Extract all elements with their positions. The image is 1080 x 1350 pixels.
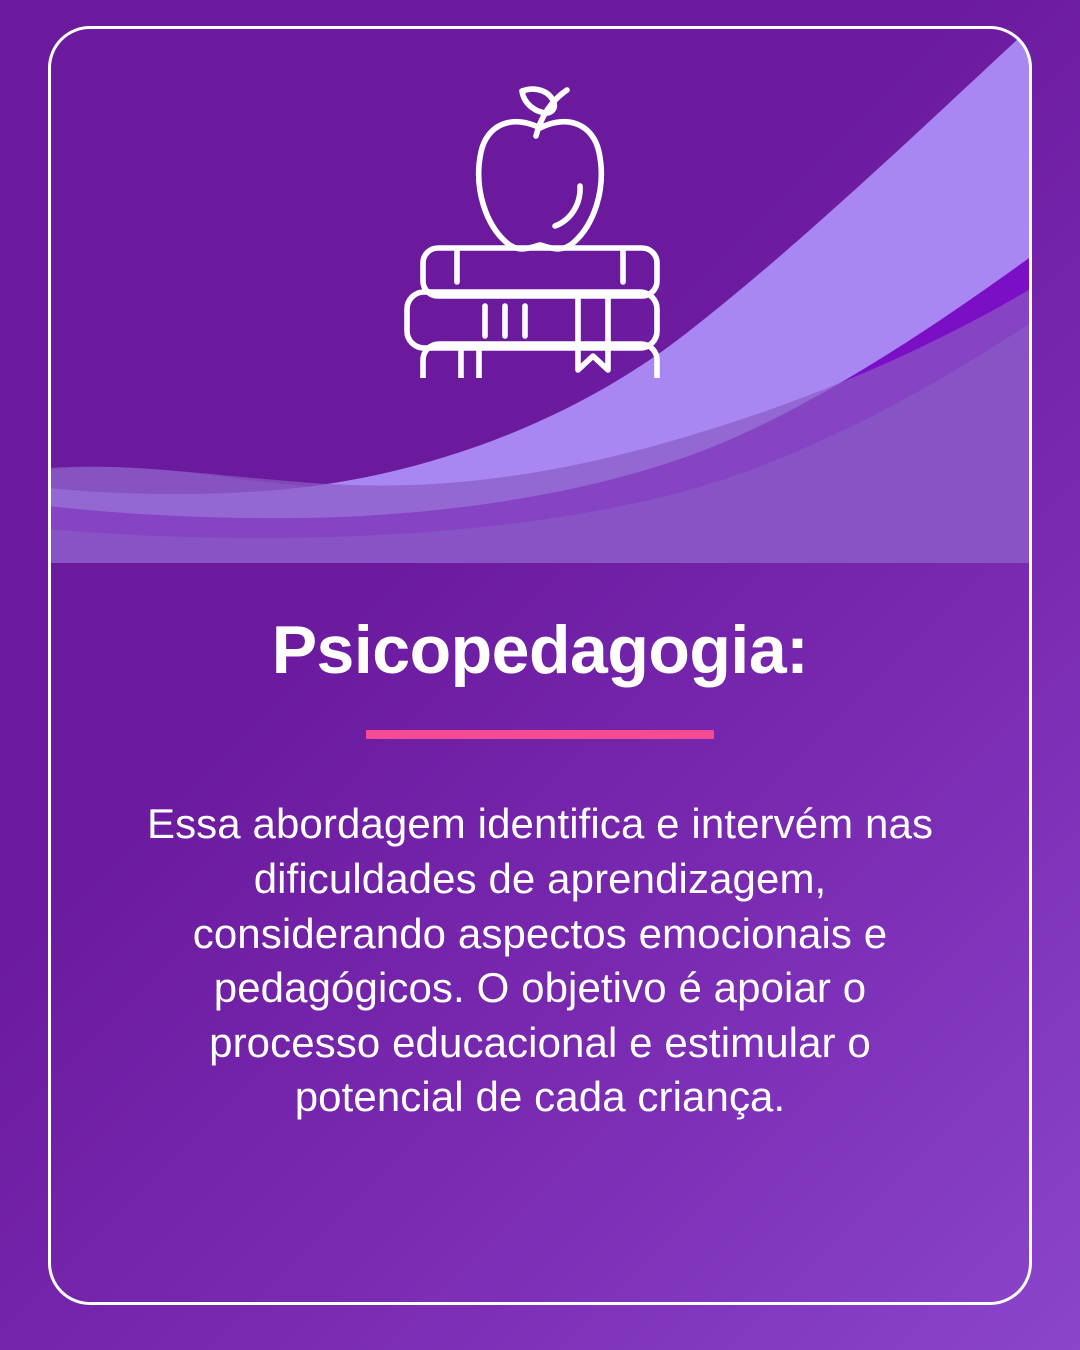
body-paragraph: Essa abordagem identifica e intervém nas…: [125, 797, 955, 1125]
apple-leaf: [522, 89, 554, 113]
apple-on-books-icon: [395, 78, 685, 378]
icon-container: [0, 78, 1080, 378]
content-area: Psicopedagogia: Essa abordagem identific…: [48, 563, 1032, 1305]
apple-body: [479, 122, 602, 249]
poster-canvas: Psicopedagogia: Essa abordagem identific…: [0, 0, 1080, 1350]
book-middle: [407, 292, 657, 348]
apple-shine: [555, 186, 580, 226]
accent-divider: [366, 730, 714, 739]
page-title: Psicopedagogia:: [272, 615, 809, 686]
bookmark-ribbon: [578, 294, 608, 370]
